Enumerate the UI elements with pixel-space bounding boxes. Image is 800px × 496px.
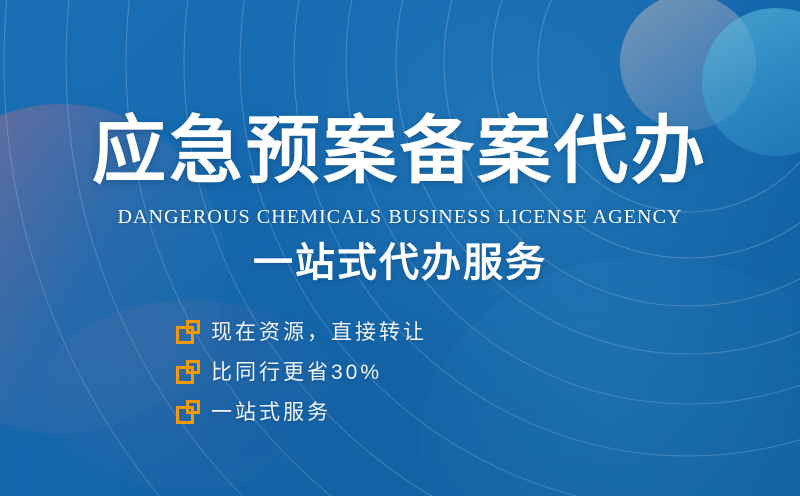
- list-item: 一站式服务: [176, 398, 427, 426]
- overlapping-squares-icon: [176, 320, 200, 344]
- banner-content: 应急预案备案代办 DANGEROUS CHEMICALS BUSINESS LI…: [0, 0, 800, 496]
- main-title: 应急预案备案代办: [0, 114, 800, 188]
- list-item-label: 现在资源，直接转让: [211, 322, 427, 343]
- promo-banner: 应急预案备案代办 DANGEROUS CHEMICALS BUSINESS LI…: [0, 0, 800, 496]
- overlapping-squares-icon: [176, 360, 200, 384]
- list-item: 比同行更省30%: [176, 358, 427, 386]
- service-subtitle: 一站式代办服务: [0, 243, 800, 283]
- feature-list: 现在资源，直接转让 比同行更省30% 一站式服务: [176, 318, 427, 426]
- list-item-label: 一站式服务: [211, 402, 331, 423]
- english-subtitle: DANGEROUS CHEMICALS BUSINESS LICENSE AGE…: [0, 206, 800, 229]
- list-item-label: 比同行更省30%: [211, 362, 382, 383]
- list-item: 现在资源，直接转让: [176, 318, 427, 346]
- overlapping-squares-icon: [176, 400, 200, 424]
